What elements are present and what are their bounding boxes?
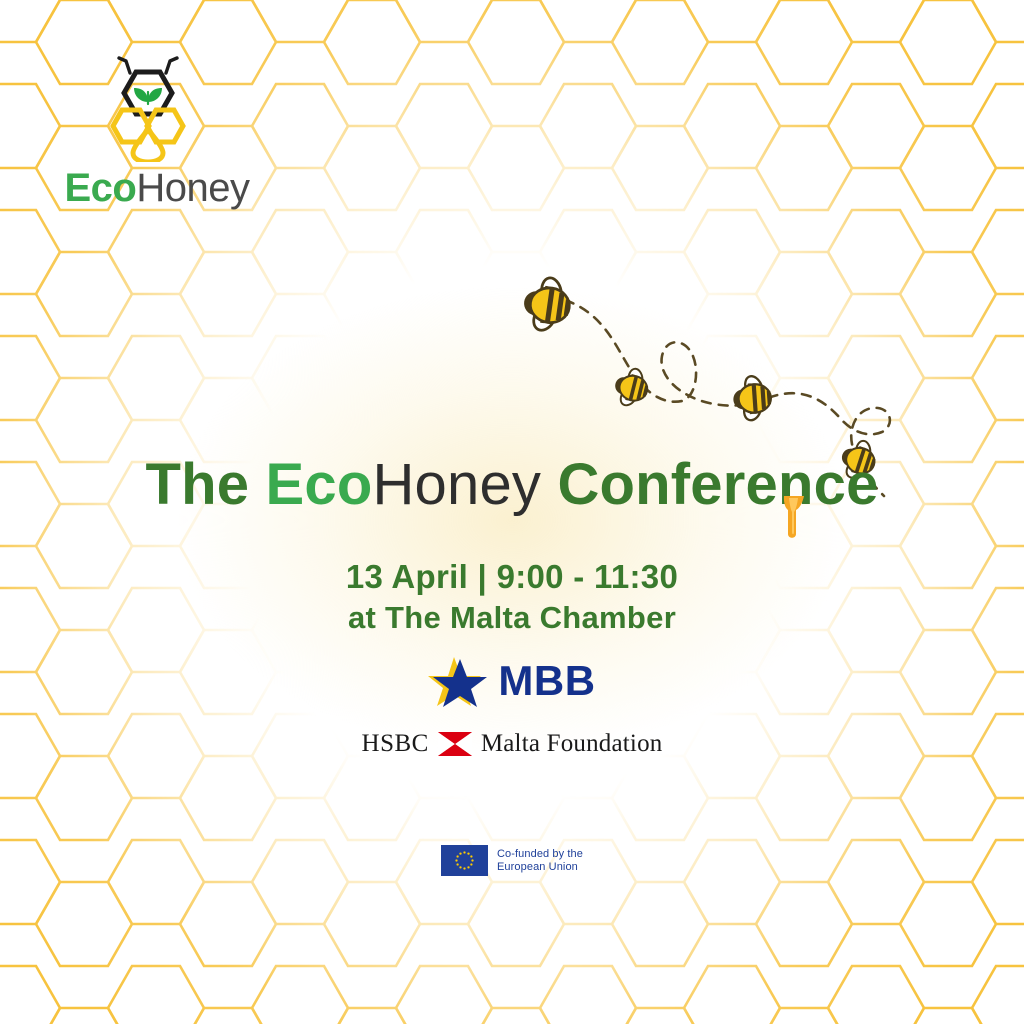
- event-time: 13 April | 9:00 - 11:30: [0, 556, 1024, 598]
- bee-icon-3: [732, 373, 773, 424]
- poster-canvas: EcoHoney: [0, 0, 1024, 1024]
- ecohoney-bee-hexagon-logo-icon: [100, 52, 196, 162]
- eu-funding-line2: European Union: [497, 861, 583, 874]
- title-word-eco: Eco: [265, 452, 372, 517]
- ecohoney-logo: EcoHoney: [42, 52, 272, 212]
- mbb-wordmark: MBB: [498, 658, 595, 704]
- poster-content: EcoHoney: [0, 0, 1024, 1024]
- title-word-honey: Honey: [372, 452, 541, 517]
- bee-icon-2: [610, 363, 652, 412]
- bee-icon-1: [520, 272, 573, 337]
- sponsor-mbb: MBB: [0, 655, 1024, 707]
- event-venue: at The Malta Chamber: [0, 598, 1024, 638]
- event-details: 13 April | 9:00 - 11:30 at The Malta Cha…: [0, 556, 1024, 638]
- mbb-star-icon: [428, 655, 488, 707]
- hsbc-wordmark: HSBC: [362, 730, 429, 758]
- brand-wordmark: EcoHoney: [42, 164, 272, 212]
- sponsor-hsbc-malta-foundation: HSBC Malta Foundation: [0, 730, 1024, 758]
- honey-drip-icon: [780, 496, 814, 542]
- brand-word-honey: Honey: [136, 166, 249, 210]
- title-word-conference: Conference: [541, 452, 878, 517]
- brand-word-eco: Eco: [65, 166, 137, 210]
- eu-funding-line1: Co-funded by the: [497, 848, 583, 861]
- eu-funding-badge: Co-funded by the European Union: [0, 845, 1024, 876]
- eu-flag-icon: [441, 845, 488, 876]
- eu-funding-text: Co-funded by the European Union: [497, 848, 583, 874]
- page-title: The EcoHoney Conference: [0, 452, 1024, 518]
- hsbc-foundation-label: Malta Foundation: [481, 730, 663, 758]
- title-word-the: The: [145, 452, 265, 517]
- hsbc-hexagon-icon: [438, 732, 472, 756]
